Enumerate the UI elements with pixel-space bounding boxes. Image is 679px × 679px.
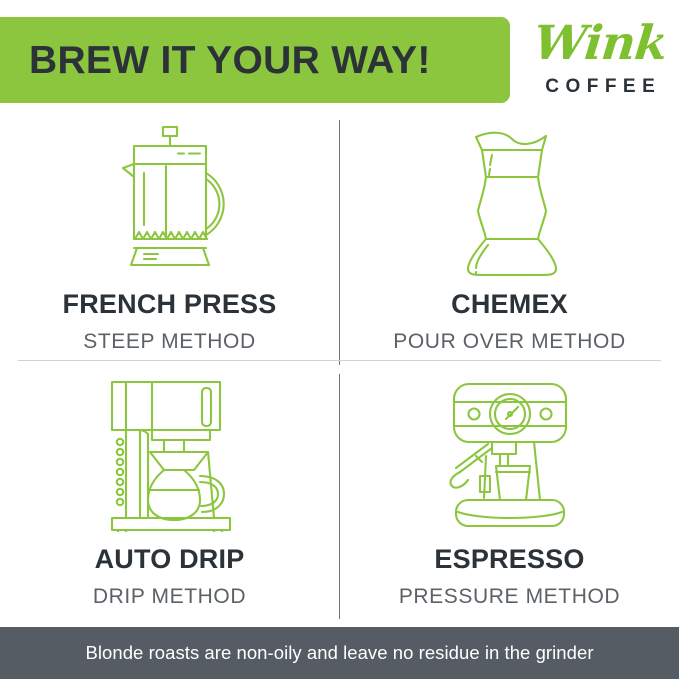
brew-methods-infographic: BREW IT YOUR WAY! Wink COFFEE: [0, 0, 679, 679]
footer-tip-text: Blonde roasts are non-oily and leave no …: [85, 642, 593, 664]
method-title: ESPRESSO: [434, 546, 584, 573]
method-card-espresso: ESPRESSO PRESSURE METHOD: [340, 367, 679, 620]
brand-logo: Wink COFFEE: [516, 14, 679, 104]
header: BREW IT YOUR WAY! Wink COFFEE: [0, 0, 679, 118]
method-subtitle: PRESSURE METHOD: [399, 586, 620, 607]
espresso-machine-icon: [430, 372, 590, 532]
header-banner: BREW IT YOUR WAY!: [0, 17, 510, 103]
footer-bar: Blonde roasts are non-oily and leave no …: [0, 627, 679, 679]
method-card-auto-drip: AUTO DRIP DRIP METHOD: [0, 367, 339, 620]
method-card-french-press: FRENCH PRESS STEEP METHOD: [0, 112, 339, 365]
method-title: FRENCH PRESS: [63, 291, 277, 318]
method-subtitle: STEEP METHOD: [83, 331, 256, 352]
auto-drip-coffee-maker-icon: [90, 372, 250, 532]
method-card-chemex: CHEMEX POUR OVER METHOD: [340, 112, 679, 365]
french-press-icon: [90, 117, 250, 277]
method-title: AUTO DRIP: [95, 546, 245, 573]
method-subtitle: POUR OVER METHOD: [393, 331, 625, 352]
chemex-icon: [430, 117, 590, 277]
page-title: BREW IT YOUR WAY!: [29, 41, 431, 80]
method-title: CHEMEX: [451, 291, 568, 318]
methods-grid: FRENCH PRESS STEEP METHOD: [0, 112, 679, 627]
brand-subtext: COFFEE: [524, 76, 676, 98]
method-subtitle: DRIP METHOD: [93, 586, 246, 607]
brand-script-wordmark: Wink: [523, 14, 678, 76]
